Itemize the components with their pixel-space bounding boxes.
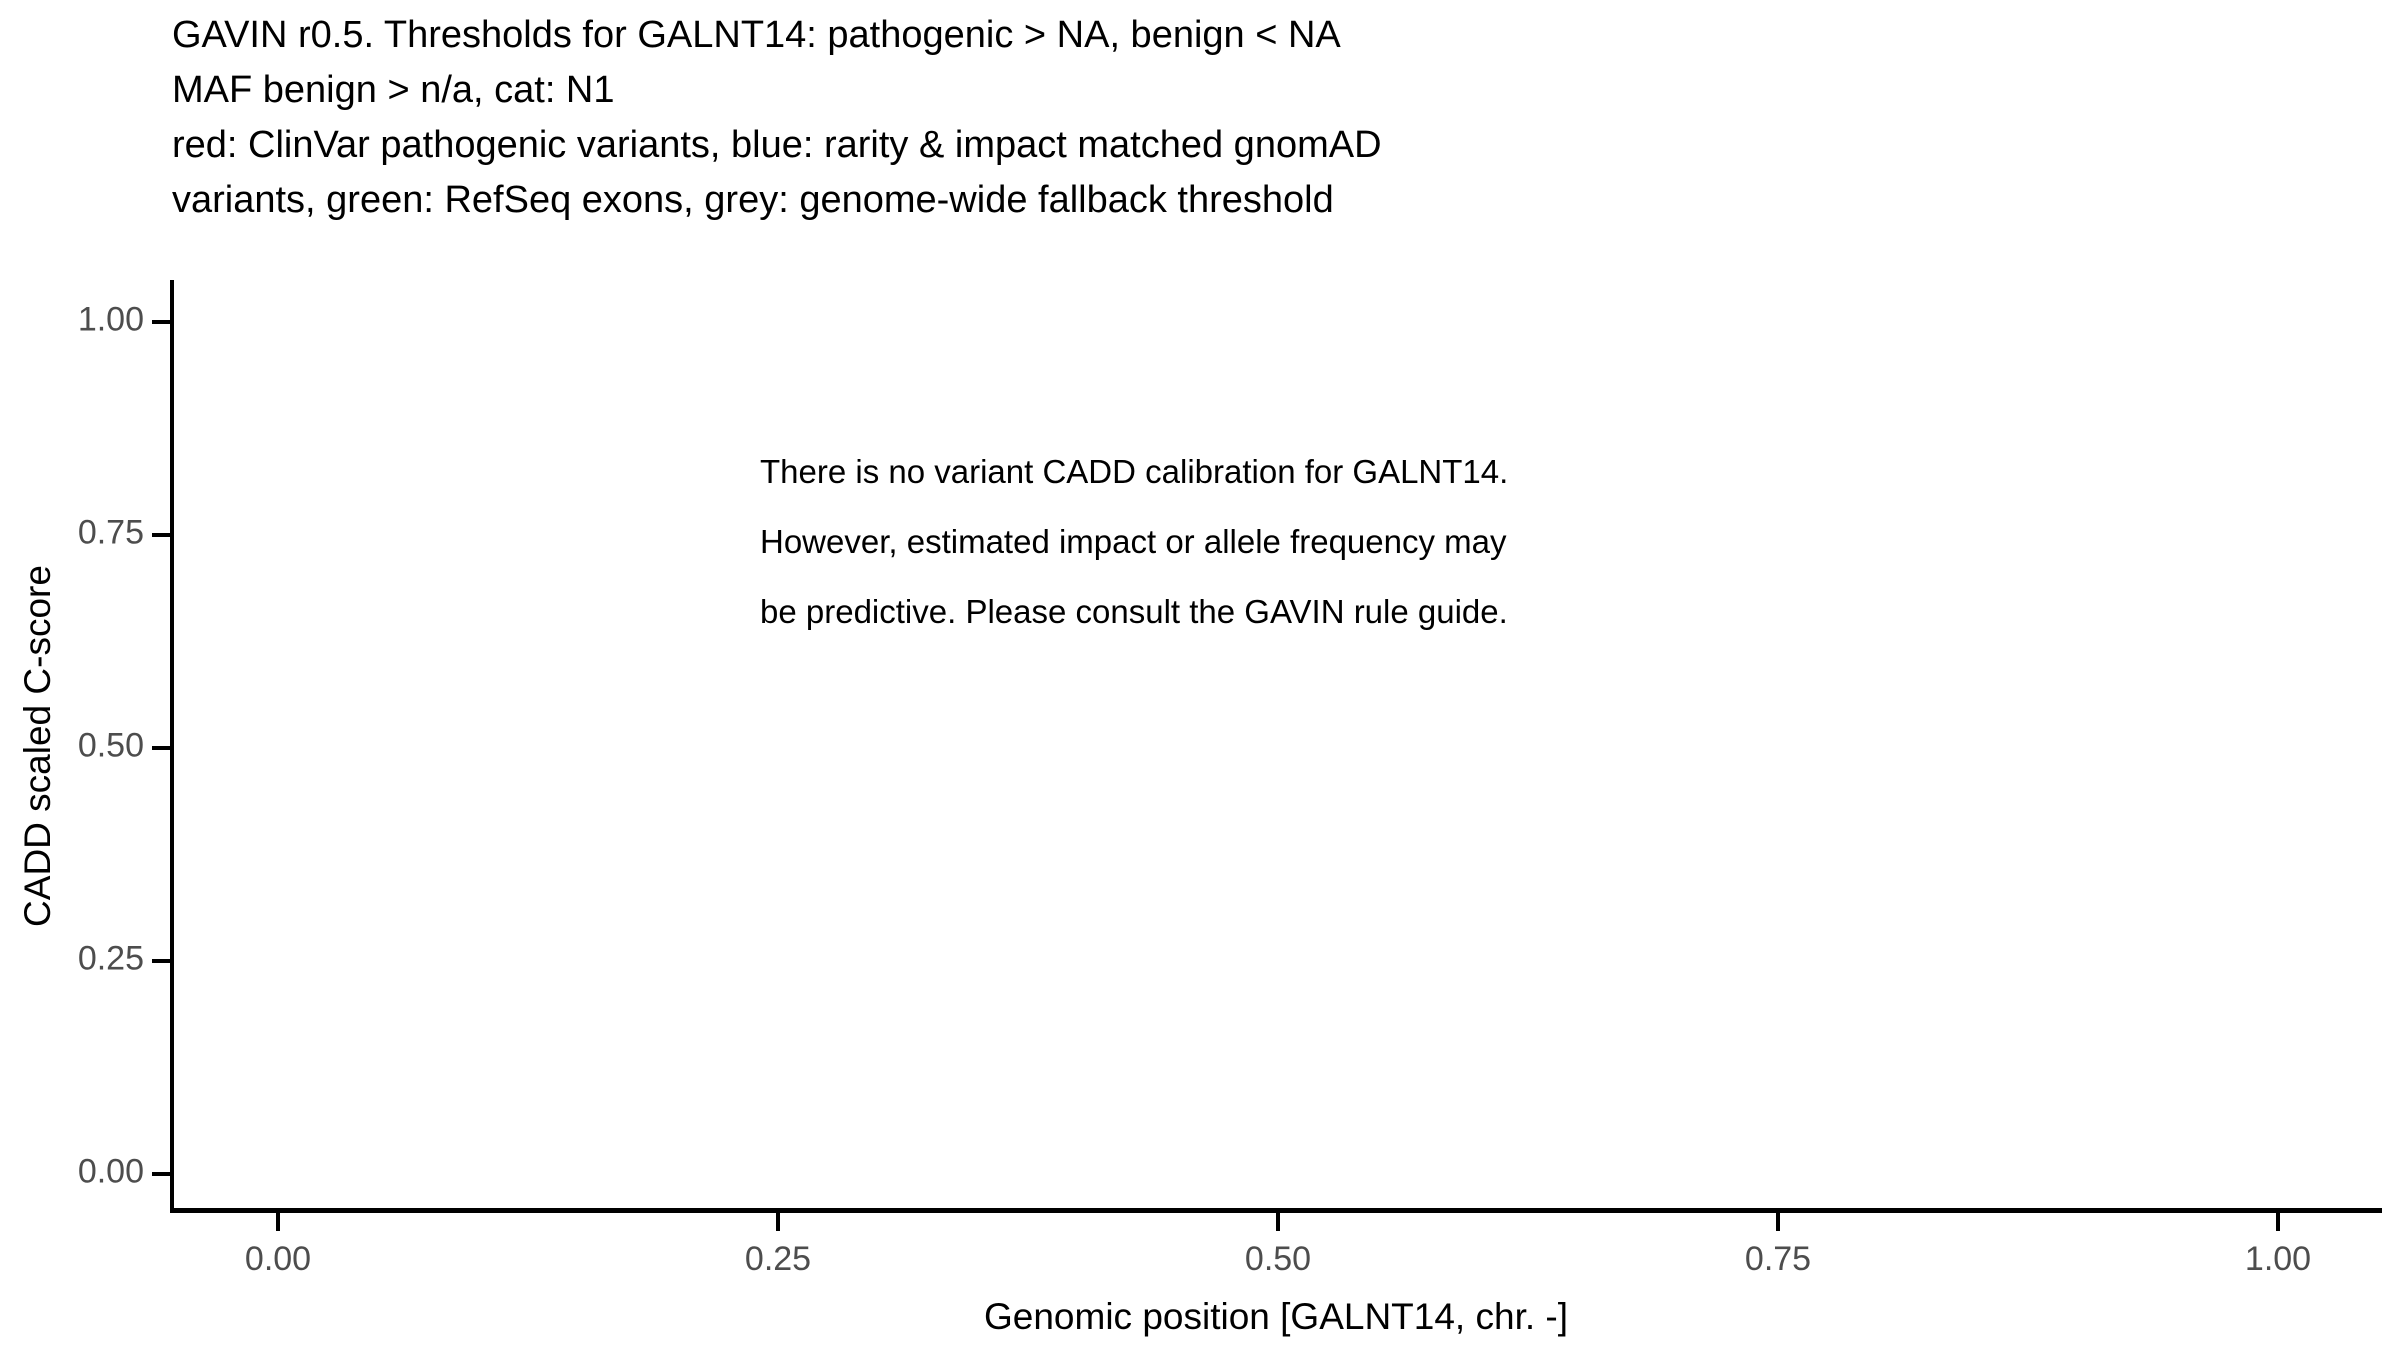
- y-tick-label: 0.50: [78, 727, 144, 766]
- x-axis-title: Genomic position [GALNT14, chr. -]: [984, 1296, 1568, 1338]
- x-tick-label: 0.75: [1745, 1240, 1811, 1279]
- y-tick-mark: [152, 959, 170, 963]
- y-tick-label: 1.00: [78, 301, 144, 340]
- plot-annotation-line-1: There is no variant CADD calibration for…: [760, 437, 1508, 507]
- x-tick-label: 0.50: [1245, 1240, 1311, 1279]
- chart-title-line-1: GAVIN r0.5. Thresholds for GALNT14: path…: [172, 8, 2272, 63]
- plot-panel: There is no variant CADD calibration for…: [172, 280, 2380, 1210]
- y-tick-label: 0.00: [78, 1153, 144, 1192]
- x-tick-mark: [276, 1213, 280, 1231]
- chart-title-line-3: red: ClinVar pathogenic variants, blue: …: [172, 118, 2272, 173]
- x-tick-label: 1.00: [2245, 1240, 2311, 1279]
- plot-annotation-line-2: However, estimated impact or allele freq…: [760, 507, 1508, 577]
- x-tick-mark: [776, 1213, 780, 1231]
- y-axis-line: [170, 280, 174, 1212]
- plot-annotation: There is no variant CADD calibration for…: [760, 437, 1508, 647]
- chart-figure: GAVIN r0.5. Thresholds for GALNT14: path…: [0, 0, 2400, 1350]
- y-tick-label: 0.75: [78, 514, 144, 553]
- x-tick-mark: [1776, 1213, 1780, 1231]
- y-tick-mark: [152, 320, 170, 324]
- plot-annotation-line-3: be predictive. Please consult the GAVIN …: [760, 577, 1508, 647]
- y-tick-mark: [152, 533, 170, 537]
- y-tick-mark: [152, 1172, 170, 1176]
- chart-title: GAVIN r0.5. Thresholds for GALNT14: path…: [172, 8, 2272, 228]
- x-tick-label: 0.00: [245, 1240, 311, 1279]
- y-tick-label: 0.25: [78, 940, 144, 979]
- x-tick-label: 0.25: [745, 1240, 811, 1279]
- y-tick-mark: [152, 746, 170, 750]
- chart-title-line-4: variants, green: RefSeq exons, grey: gen…: [172, 173, 2272, 228]
- x-tick-mark: [2276, 1213, 2280, 1231]
- y-axis-title: CADD scaled C-score: [17, 565, 59, 927]
- x-tick-mark: [1276, 1213, 1280, 1231]
- chart-title-line-2: MAF benign > n/a, cat: N1: [172, 63, 2272, 118]
